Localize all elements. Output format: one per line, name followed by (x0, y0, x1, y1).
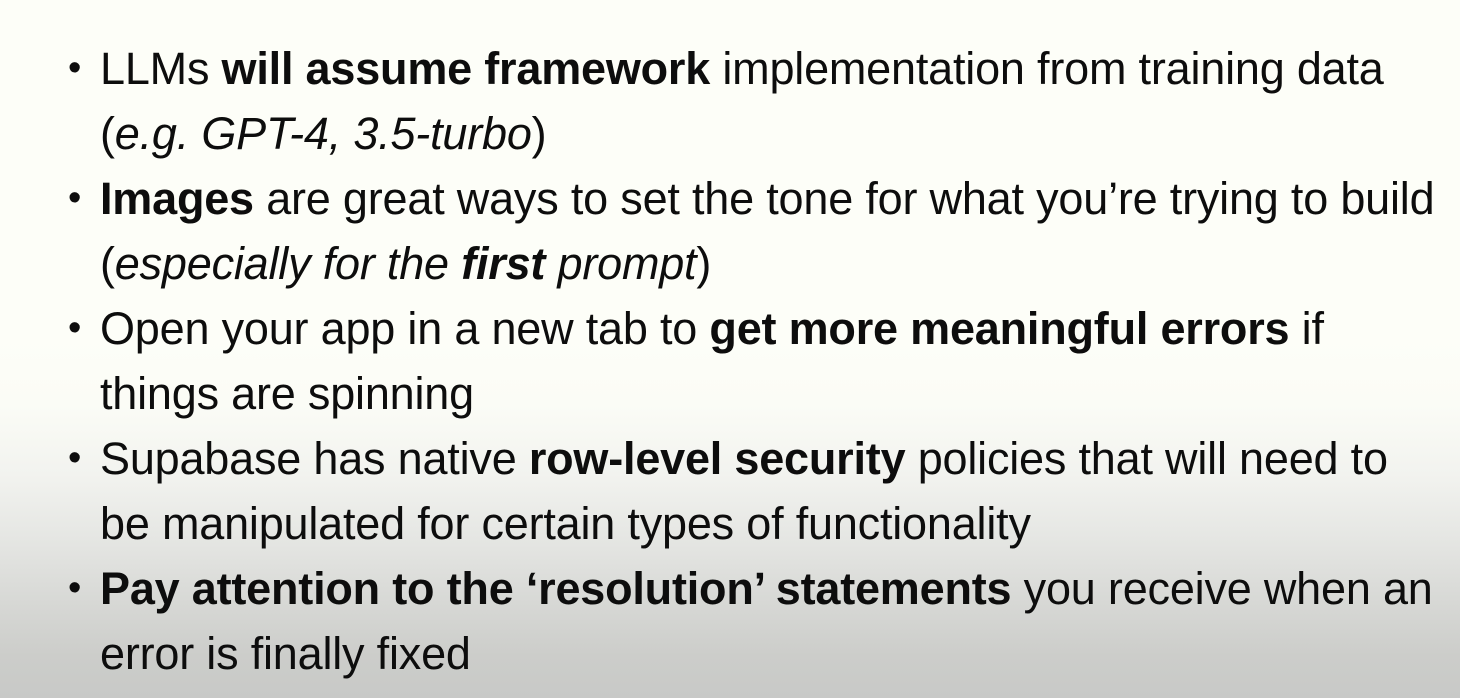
list-item: • Images are great ways to set the tone … (0, 166, 1460, 296)
bullet-point-icon: • (68, 426, 88, 491)
bullet-text: Pay attention to the ‘resolution’ statem… (100, 563, 1433, 679)
bullet-list: • LLMs will assume framework implementat… (0, 36, 1460, 686)
bullet-text: Open your app in a new tab to get more m… (100, 303, 1324, 419)
list-item: • Open your app in a new tab to get more… (0, 296, 1460, 426)
list-item: • Pay attention to the ‘resolution’ stat… (0, 556, 1460, 686)
bullet-point-icon: • (68, 166, 88, 231)
bullet-text: Supabase has native row-level security p… (100, 433, 1388, 549)
bullet-point-icon: • (68, 556, 88, 621)
bullet-text: Images are great ways to set the tone fo… (100, 173, 1434, 289)
bullet-point-icon: • (68, 296, 88, 361)
list-item: • Supabase has native row-level security… (0, 426, 1460, 556)
bullet-text: LLMs will assume framework implementatio… (100, 43, 1384, 159)
bullet-point-icon: • (68, 36, 88, 101)
list-item: • LLMs will assume framework implementat… (0, 36, 1460, 166)
slide-canvas: • LLMs will assume framework implementat… (0, 0, 1460, 698)
